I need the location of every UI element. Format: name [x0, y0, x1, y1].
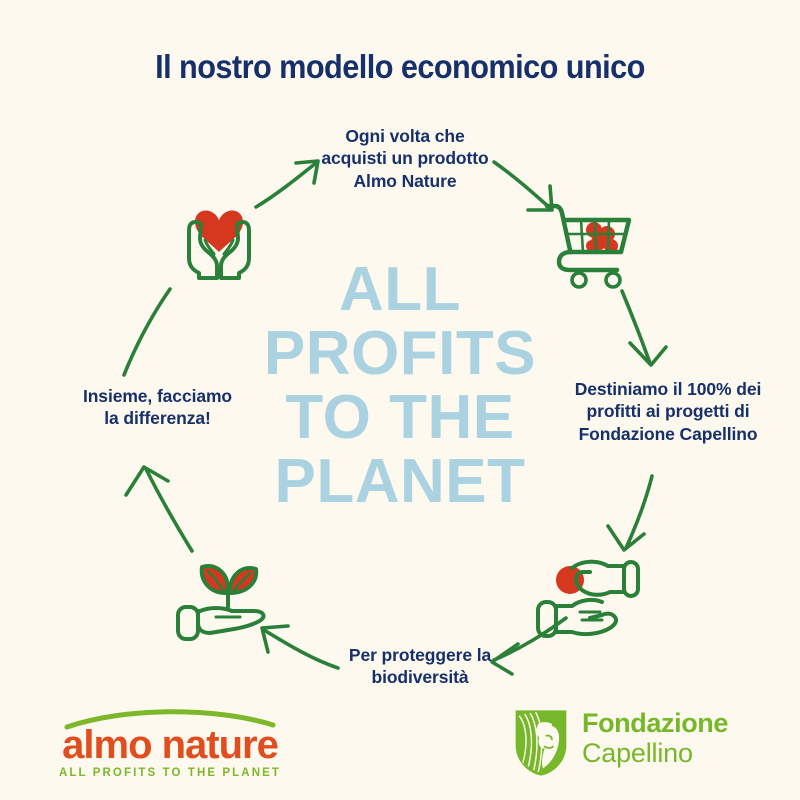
arrow-sprout-to-difference	[118, 455, 208, 555]
fondazione-capellino-logo: Fondazione Capellino	[510, 703, 760, 785]
infographic-canvas: Il nostro modello economico unico ALL PR…	[0, 0, 800, 800]
caption-step-biodiversity: Per proteggere la biodiversità	[305, 644, 535, 689]
page-title: Il nostro modello economico unico	[28, 48, 772, 86]
almo-nature-logo: almo nature ALL PROFITS TO THE PLANET	[45, 705, 295, 785]
caption-step-purchase: Ogni volta che acquisti un prodotto Almo…	[280, 125, 530, 192]
almo-nature-tagline: ALL PROFITS TO THE PLANET	[45, 767, 295, 779]
caption-step-difference: Insieme, facciamo la differenza!	[40, 385, 275, 430]
arrow-difference-to-heart	[110, 285, 195, 380]
almo-nature-wordmark: almo nature	[45, 723, 295, 768]
fondazione-capellino-shield-icon	[512, 708, 570, 778]
caption-step-profits: Destiniamo il 100% dei profitti ai proge…	[546, 378, 790, 445]
fondazione-capellino-wordmark: Fondazione Capellino	[582, 709, 728, 768]
arrow-cart-to-profits	[608, 285, 688, 375]
fc-line-fondazione: Fondazione	[582, 709, 728, 738]
fc-line-capellino: Capellino	[582, 738, 728, 768]
arrow-profits-to-giving	[600, 470, 680, 560]
